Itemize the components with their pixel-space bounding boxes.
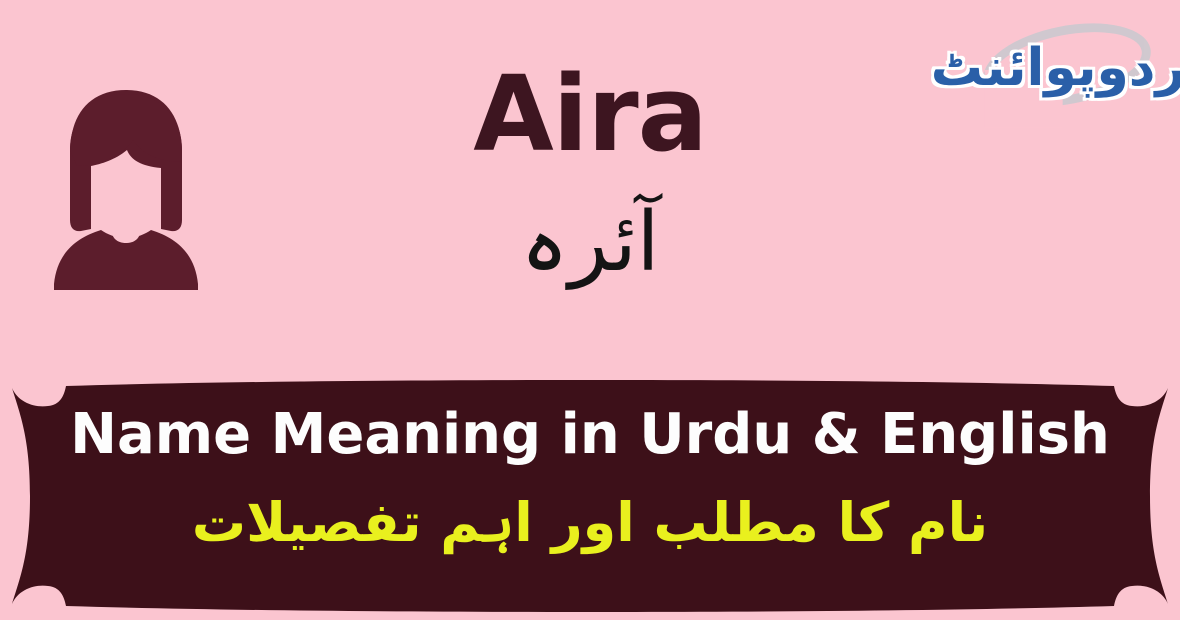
banner-subtitle: نام کا مطلب اور اہم تفصیلات: [0, 488, 1180, 558]
name-meaning-card: اردوپوائنٹ Aira آئرہ Name Meaning in Urd…: [0, 0, 1180, 620]
banner-title: Name Meaning in Urdu & English: [0, 404, 1180, 466]
name-latin: Aira: [0, 62, 1180, 166]
meaning-banner: Name Meaning in Urdu & English نام کا مط…: [0, 372, 1180, 620]
name-urdu: آئرہ: [0, 192, 1180, 295]
